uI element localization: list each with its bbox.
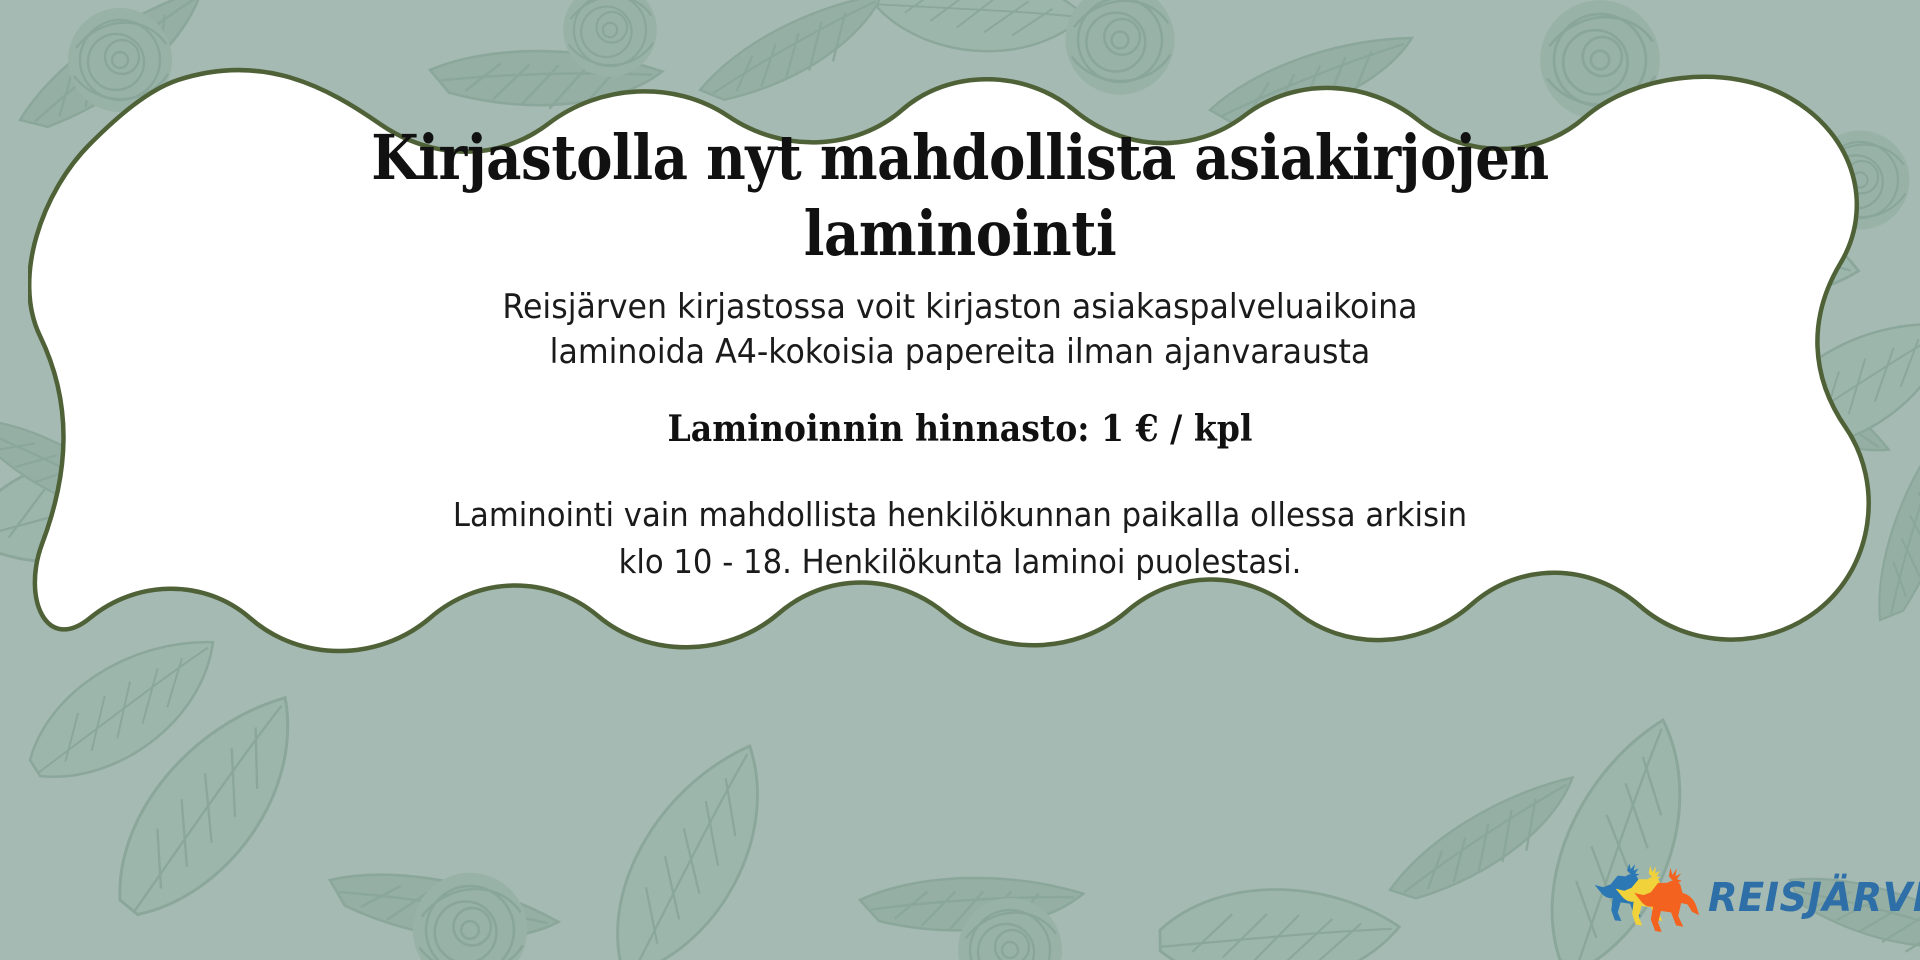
logo-wordmark: REISJÄRVI bbox=[1708, 875, 1920, 921]
notes-line-2: klo 10 - 18. Henkilökunta laminoi puoles… bbox=[619, 542, 1302, 581]
poster-canvas: Kirjastolla nyt mahdollista asiakirjojen… bbox=[0, 0, 1920, 960]
lead-paragraph: Reisjärven kirjastossa voit kirjaston as… bbox=[263, 285, 1658, 375]
page-title: Kirjastolla nyt mahdollista asiakirjojen… bbox=[300, 120, 1620, 271]
three-deer-icon bbox=[1594, 859, 1702, 937]
price-line: Laminoinnin hinnasto: 1 € / kpl bbox=[270, 406, 1650, 453]
card-content: Kirjastolla nyt mahdollista asiakirjojen… bbox=[210, 120, 1710, 586]
lead-line-2: laminoida A4-kokoisia papereita ilman aj… bbox=[550, 332, 1371, 372]
lead-line-1: Reisjärven kirjastossa voit kirjaston as… bbox=[502, 287, 1417, 327]
deer-orange-icon bbox=[1634, 868, 1699, 932]
notes-line-1: Laminointi vain mahdollista henkilökunna… bbox=[453, 495, 1467, 534]
notes-paragraph: Laminointi vain mahdollista henkilökunna… bbox=[263, 492, 1658, 586]
reisjarvi-logo[interactable]: REISJÄRVI bbox=[1594, 852, 1894, 944]
